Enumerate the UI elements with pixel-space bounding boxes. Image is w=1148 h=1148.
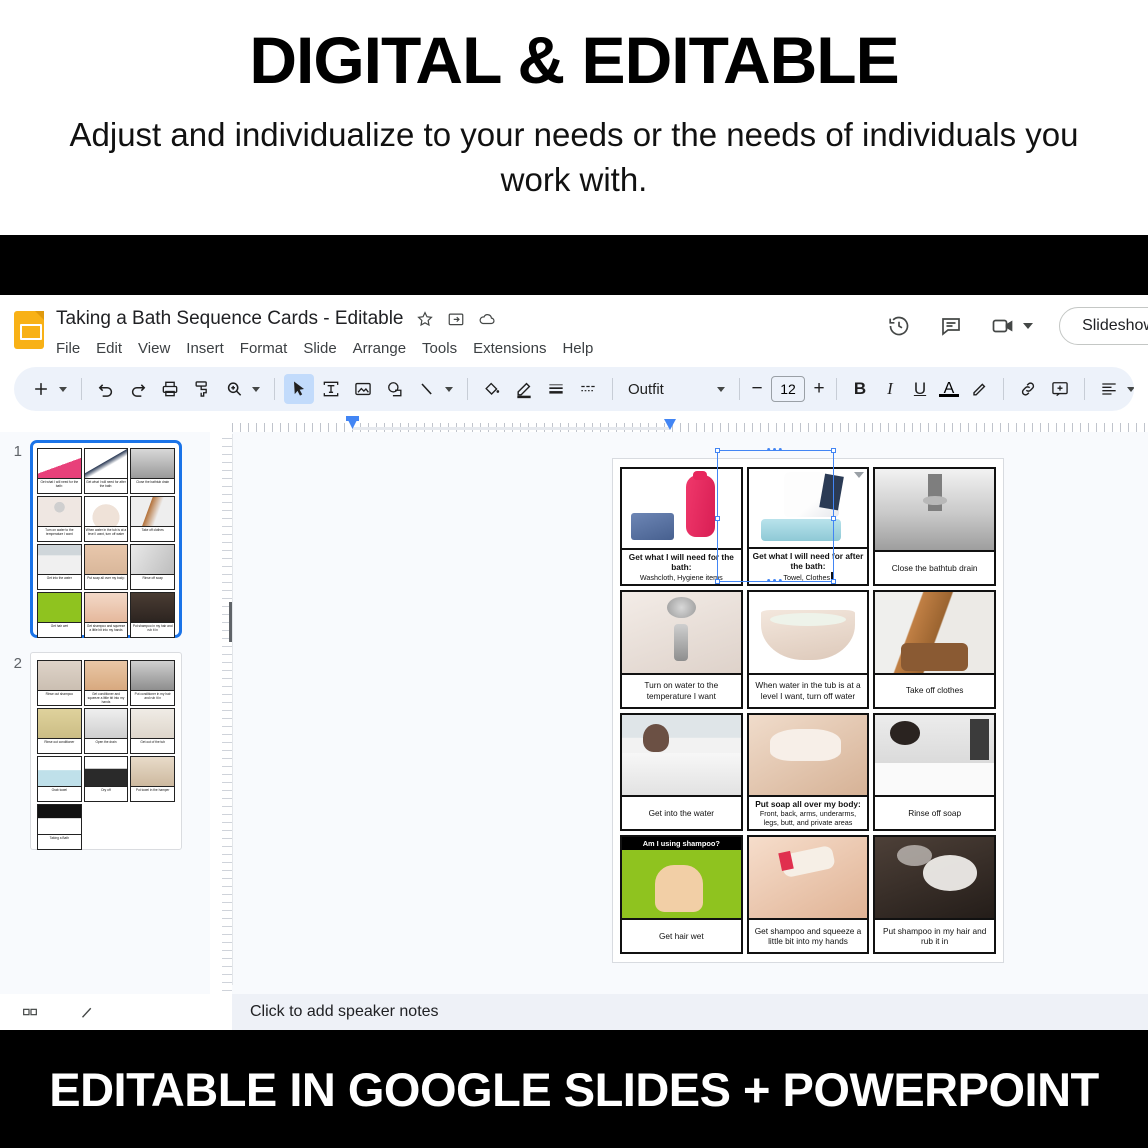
card-image xyxy=(749,715,868,795)
menu-insert[interactable]: Insert xyxy=(186,340,224,357)
meet-button[interactable] xyxy=(990,313,1033,339)
filmstrip-slide-1[interactable]: 1 Get what I will need for the bath: Get… xyxy=(8,440,200,638)
thumb-card: Grab towel xyxy=(37,756,82,802)
card-1[interactable]: Get what I will need for the bath: Washc… xyxy=(620,467,743,586)
thumb-card: Get what I will need for the bath: xyxy=(37,448,82,494)
card-caption: Get shampoo and squeeze a little bit int… xyxy=(749,918,868,952)
shape-icon[interactable] xyxy=(380,374,410,404)
promo-header: DIGITAL & EDITABLE Adjust and individual… xyxy=(0,0,1148,235)
slide-thumbnail-1[interactable]: Get what I will need for the bath: Get w… xyxy=(30,440,182,638)
card-banner: Am I using shampoo? xyxy=(622,837,741,850)
divider xyxy=(739,378,740,400)
header-actions: Slideshow xyxy=(886,307,1148,345)
card-caption: Turn on water to the temperature I want xyxy=(622,673,741,707)
thumb-card: Put towel in the hamper xyxy=(130,756,175,802)
card-title: Get what I will need for the bath: xyxy=(625,552,738,573)
thumb-card: Rinse out shampoo xyxy=(37,660,82,706)
divider xyxy=(1003,378,1004,400)
star-icon[interactable] xyxy=(415,309,435,329)
thumbnail-card-grid: Rinse out shampoo Get conditioner and sq… xyxy=(37,660,175,850)
ruler-text-region xyxy=(352,427,670,430)
text-color-button[interactable]: A xyxy=(936,380,962,398)
card-8[interactable]: Put soap all over my body: Front, back, … xyxy=(747,713,870,832)
card-image xyxy=(875,592,994,673)
slide-background[interactable]: Get what I will need for the bath: Washc… xyxy=(232,434,1148,985)
menu-help[interactable]: Help xyxy=(562,340,593,357)
speaker-notes-input[interactable]: Click to add speaker notes xyxy=(232,994,1148,1030)
card-image: Am I using shampoo? xyxy=(622,837,741,918)
card-3[interactable]: Close the bathtub drain xyxy=(873,467,996,586)
thumb-card: Put shampoo in my hair and rub it in xyxy=(130,592,175,638)
thumb-card: Dry off xyxy=(84,756,129,802)
google-slides-logo-icon xyxy=(14,311,44,349)
thumb-card: Put soap all over my body: xyxy=(84,544,129,590)
card-2[interactable]: Get what I will need for after the bath:… xyxy=(747,467,870,586)
card-4[interactable]: Turn on water to the temperature I want xyxy=(620,590,743,709)
card-title: Turn on water to the temperature I want xyxy=(625,680,738,701)
card-title: Rinse off soap xyxy=(908,808,961,818)
chevron-down-icon[interactable] xyxy=(1023,323,1033,329)
insert-comment-icon[interactable] xyxy=(1045,374,1075,404)
promo-footer-text: EDITABLE IN GOOGLE SLIDES + POWERPOINT xyxy=(49,1062,1098,1117)
line-chevron-down-icon[interactable] xyxy=(445,387,453,392)
menu-edit[interactable]: Edit xyxy=(96,340,122,357)
thumb-card: When water in the tub is at a level I wa… xyxy=(84,496,129,542)
chevron-down-icon[interactable] xyxy=(854,472,864,478)
menu-view[interactable]: View xyxy=(138,340,170,357)
font-size-stepper[interactable]: − 12 + xyxy=(749,376,827,402)
card-title: Get shampoo and squeeze a little bit int… xyxy=(752,926,865,947)
card-caption: Get hair wet xyxy=(622,918,741,952)
canvas-area: Get what I will need for the bath: Washc… xyxy=(210,432,1148,997)
print-icon[interactable] xyxy=(155,374,185,404)
card-image xyxy=(749,837,868,918)
thumb-card: Get conditioner and squeeze a little bit… xyxy=(84,660,129,706)
card-caption: Take off clothes xyxy=(875,673,994,707)
card-subtitle: Towel, Clothes xyxy=(783,572,832,582)
comment-icon[interactable] xyxy=(938,313,964,339)
thumb-card: Get what I will need for after the bath: xyxy=(84,448,129,494)
undo-icon[interactable] xyxy=(91,374,121,404)
promo-title: DIGITAL & EDITABLE xyxy=(0,26,1148,95)
thumb-card: Get into the water xyxy=(37,544,82,590)
card-image xyxy=(622,469,741,548)
document-title[interactable]: Taking a Bath Sequence Cards - Editable xyxy=(56,308,404,330)
card-subtitle: Front, back, arms, underarms, legs, butt… xyxy=(752,809,865,827)
menu-format[interactable]: Format xyxy=(240,340,288,357)
menu-arrange[interactable]: Arrange xyxy=(353,340,406,357)
drag-dots-top[interactable]: ••• xyxy=(765,448,787,453)
card-image xyxy=(875,837,994,918)
card-7[interactable]: Get into the water xyxy=(620,713,743,832)
redo-icon[interactable] xyxy=(123,374,153,404)
thumb-card: Get out of the tub xyxy=(130,708,175,754)
video-camera-icon[interactable] xyxy=(990,313,1016,339)
card-title: Get what I will need for after the bath: xyxy=(752,551,865,572)
app-header: Taking a Bath Sequence Cards - Editable … xyxy=(0,295,1148,363)
highlight-color-icon[interactable] xyxy=(964,374,994,404)
divider xyxy=(1084,378,1085,400)
card-subtitle: Washcloth, Hygiene items xyxy=(640,573,723,582)
card-image xyxy=(749,469,868,547)
ruler-ticks-vertical xyxy=(222,438,232,991)
thumbnail-card-grid: Get what I will need for the bath: Get w… xyxy=(37,448,175,638)
filmstrip-slide-2[interactable]: 2 Rinse out shampoo Get conditioner and … xyxy=(8,652,200,850)
thumb-card: Rinse off soap xyxy=(130,544,175,590)
vertical-ruler[interactable] xyxy=(210,432,232,997)
card-image xyxy=(749,592,868,673)
menu-bar: File Edit View Insert Format Slide Arran… xyxy=(56,340,593,357)
border-weight-icon[interactable] xyxy=(541,374,571,404)
card-5[interactable]: When water in the tub is at a level I wa… xyxy=(747,590,870,709)
card-image xyxy=(622,592,741,673)
workspace: 1 Get what I will need for the bath: Get… xyxy=(0,432,1148,997)
thumb-card: Get hair wet xyxy=(37,592,82,638)
text-caret xyxy=(831,572,833,581)
zoom-icon[interactable] xyxy=(219,374,249,404)
slideshow-button[interactable]: Slideshow xyxy=(1059,307,1148,345)
card-title: When water in the tub is at a level I wa… xyxy=(752,680,865,701)
speaker-notes-bar: Click to add speaker notes xyxy=(0,994,1148,1030)
underline-button[interactable]: U xyxy=(906,379,934,399)
font-size-decrease-button[interactable]: − xyxy=(749,378,765,400)
thumb-card: Open the drain xyxy=(84,708,129,754)
sequence-cards-sheet[interactable]: Get what I will need for the bath: Washc… xyxy=(612,458,1004,963)
card-caption: Get into the water xyxy=(622,795,741,829)
menu-extensions[interactable]: Extensions xyxy=(473,340,546,357)
toolbar: Outfit − 12 + B I U A xyxy=(14,367,1134,411)
thumb-card: Get shampoo and squeeze a little bit int… xyxy=(84,592,129,638)
border-color-icon[interactable] xyxy=(509,374,539,404)
bold-button[interactable]: B xyxy=(846,379,874,399)
text-box-icon[interactable] xyxy=(316,374,346,404)
card-image xyxy=(875,469,994,550)
zoom-chevron-down-icon[interactable] xyxy=(252,387,260,392)
card-caption: Get what I will need for the bath: Washc… xyxy=(622,548,741,584)
move-to-folder-icon[interactable] xyxy=(446,309,466,329)
insert-image-icon[interactable] xyxy=(348,374,378,404)
slide-filmstrip[interactable]: 1 Get what I will need for the bath: Get… xyxy=(0,432,210,997)
menu-file[interactable]: File xyxy=(56,340,80,357)
bottom-left-tools xyxy=(0,994,232,1030)
resize-handle-nw[interactable] xyxy=(715,448,720,453)
card-caption: Get what I will need for after the bath:… xyxy=(749,547,868,584)
card-caption: When water in the tub is at a level I wa… xyxy=(749,673,868,707)
italic-button[interactable]: I xyxy=(876,379,904,399)
card-image xyxy=(622,715,741,796)
top-black-divider xyxy=(0,235,1148,295)
card-title: Put shampoo in my hair and rub it in xyxy=(878,926,991,947)
menu-tools[interactable]: Tools xyxy=(422,340,457,357)
card-11[interactable]: Get shampoo and squeeze a little bit int… xyxy=(747,835,870,954)
thumb-card: Rinse out conditioner xyxy=(37,708,82,754)
card-title: Close the bathtub drain xyxy=(892,563,978,573)
bottom-promo-bar: EDITABLE IN GOOGLE SLIDES + POWERPOINT xyxy=(0,1030,1148,1148)
card-title: Get into the water xyxy=(649,808,715,818)
thumb-card: Close the bathtub drain xyxy=(130,448,175,494)
divider xyxy=(836,378,837,400)
version-history-icon[interactable] xyxy=(886,313,912,339)
align-chevron-down-icon[interactable] xyxy=(1127,387,1134,392)
font-chevron-down-icon[interactable] xyxy=(717,387,725,392)
card-caption: Close the bathtub drain xyxy=(875,550,994,584)
new-slide-chevron-down-icon[interactable] xyxy=(59,387,67,392)
divider xyxy=(274,378,275,400)
card-9[interactable]: Rinse off soap xyxy=(873,713,996,832)
card-caption: Put shampoo in my hair and rub it in xyxy=(875,918,994,952)
filmstrip-view-icon[interactable] xyxy=(22,1004,38,1020)
divider xyxy=(467,378,468,400)
font-size-increase-button[interactable]: + xyxy=(811,378,827,400)
card-10[interactable]: Am I using shampoo? Get hair wet xyxy=(620,835,743,954)
cards-grid: Get what I will need for the bath: Washc… xyxy=(620,467,996,954)
thumb-card: Put conditioner in my hair and rub it in xyxy=(130,660,175,706)
thumb-card: Taking a Bath xyxy=(37,804,82,850)
promo-subtitle: Adjust and individualize to your needs o… xyxy=(0,113,1148,202)
horizontal-ruler[interactable] xyxy=(232,416,1148,432)
card-title: Put soap all over my body: xyxy=(755,799,861,809)
card-6[interactable]: Take off clothes xyxy=(873,590,996,709)
line-icon[interactable] xyxy=(412,374,442,404)
card-image xyxy=(875,715,994,796)
slide-number-2: 2 xyxy=(8,652,22,672)
divider xyxy=(612,378,613,400)
border-dash-icon[interactable] xyxy=(573,374,603,404)
thumb-card: Take off clothes xyxy=(130,496,175,542)
select-tool-icon[interactable] xyxy=(284,374,314,404)
divider xyxy=(81,378,82,400)
cloud-saved-icon[interactable] xyxy=(477,309,497,329)
slide-canvas[interactable]: Get what I will need for the bath: Washc… xyxy=(232,432,1148,997)
card-caption: Put soap all over my body: Front, back, … xyxy=(749,795,868,829)
insert-link-icon[interactable] xyxy=(1013,374,1043,404)
new-slide-icon[interactable] xyxy=(26,374,56,404)
slide-number-1: 1 xyxy=(8,440,22,460)
font-size-input[interactable]: 12 xyxy=(771,376,805,402)
promo-page: DIGITAL & EDITABLE Adjust and individual… xyxy=(0,0,1148,1148)
align-icon[interactable] xyxy=(1094,374,1124,404)
slide-thumbnail-2[interactable]: Rinse out shampoo Get conditioner and sq… xyxy=(30,652,182,850)
paint-format-icon[interactable] xyxy=(187,374,217,404)
menu-slide[interactable]: Slide xyxy=(303,340,336,357)
font-family-value: Outfit xyxy=(628,381,664,398)
resize-handle-ne[interactable] xyxy=(831,448,836,453)
card-title: Take off clothes xyxy=(906,685,964,695)
fill-color-icon[interactable] xyxy=(477,374,507,404)
card-12[interactable]: Put shampoo in my hair and rub it in xyxy=(873,835,996,954)
pen-tool-icon[interactable] xyxy=(78,1003,96,1021)
card-caption: Rinse off soap xyxy=(875,795,994,829)
font-family-select[interactable]: Outfit xyxy=(622,381,730,398)
card-title: Get hair wet xyxy=(659,931,704,941)
thumb-card: Turn on water to the temperature I want xyxy=(37,496,82,542)
google-slides-window: Taking a Bath Sequence Cards - Editable … xyxy=(0,295,1148,1030)
